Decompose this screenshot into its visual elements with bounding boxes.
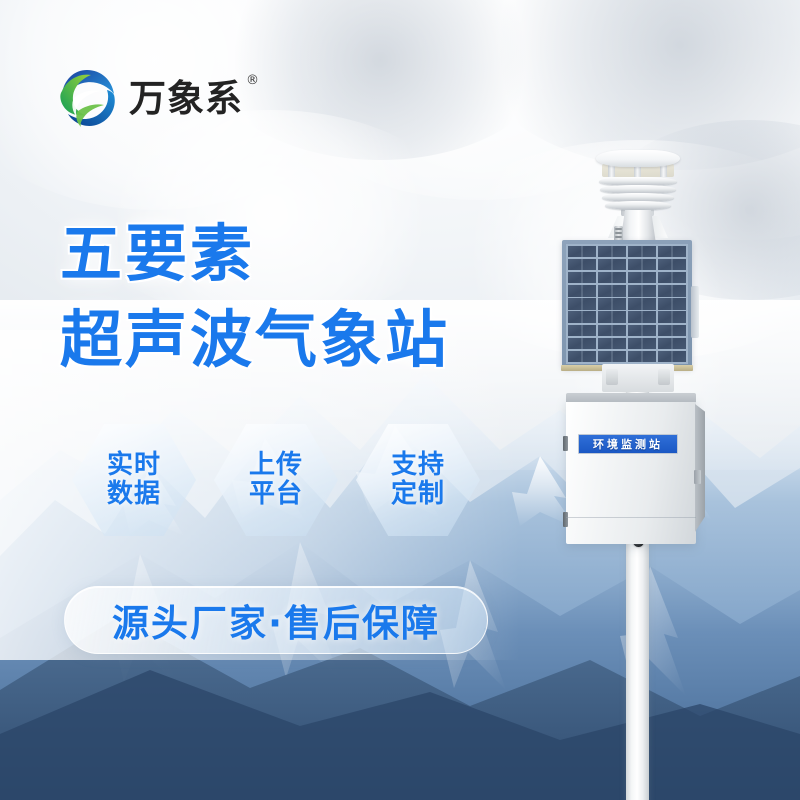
solar-cell: [628, 325, 657, 337]
enclosure-latch-bottom: [563, 512, 568, 527]
enclosure-top-edge: [566, 393, 696, 402]
headline-line-2: 超声波气象站: [60, 308, 450, 372]
enclosure-door-seam: [566, 517, 696, 518]
solar-cell: [658, 325, 687, 337]
headline-line-1: 五要素: [60, 222, 450, 286]
solar-panel: [562, 240, 692, 368]
feature-badges: 实时 数据 上传 平台 支持 定制: [72, 424, 480, 536]
solar-cell: [598, 272, 627, 284]
badge-custom-support[interactable]: 支持 定制: [356, 424, 480, 536]
solar-cell: [598, 325, 627, 337]
solar-cell: [568, 338, 597, 350]
solar-cell: [658, 311, 687, 323]
ultrasonic-sensor-head: [588, 150, 688, 242]
solar-panel-side-bracket: [691, 286, 699, 338]
enclosure-side-panel: [695, 404, 705, 532]
solar-cell: [628, 246, 657, 258]
solar-mount-bracket: [602, 364, 674, 392]
radiation-shield-plate-4: [605, 201, 671, 210]
swirling-globe-logo-icon: [57, 67, 119, 129]
enclosure-hinge-tab: [694, 470, 701, 484]
solar-cell: [598, 259, 627, 271]
badge-custom-support-line1: 支持: [391, 451, 445, 480]
transducer-post-right: [660, 165, 667, 177]
solar-cell: [628, 311, 657, 323]
solar-cell: [598, 298, 627, 310]
solar-cell: [598, 351, 627, 363]
solar-cell: [568, 259, 597, 271]
solar-cell: [568, 272, 597, 284]
registered-trademark-icon: ®: [246, 74, 260, 87]
solar-cell: [658, 338, 687, 350]
brand-logo[interactable]: 万象系 ®: [57, 62, 287, 134]
product-poster: 万象系 ® 五要素 超声波气象站 实时 数据 上传 平台 支持 定制 源头厂家·…: [0, 0, 800, 800]
solar-cell: [628, 351, 657, 363]
headline: 五要素 超声波气象站: [60, 222, 450, 373]
solar-cell: [658, 285, 687, 297]
solar-cell: [628, 272, 657, 284]
solar-cell: [598, 311, 627, 323]
badge-realtime-data[interactable]: 实时 数据: [72, 424, 196, 536]
solar-cell: [658, 272, 687, 284]
controller-enclosure: 环境监测站: [566, 400, 696, 544]
solar-cell: [568, 311, 597, 323]
brand-name: 万象系 ®: [129, 80, 243, 117]
badge-upload-platform[interactable]: 上传 平台: [214, 424, 338, 536]
solar-cell: [628, 259, 657, 271]
badge-realtime-data-line1: 实时: [107, 451, 161, 480]
badge-upload-platform-line1: 上传: [249, 451, 303, 480]
sensor-stem: [620, 210, 656, 244]
solar-cell: [628, 285, 657, 297]
badge-custom-support-line2: 定制: [391, 480, 445, 509]
solar-cell: [568, 285, 597, 297]
product-image: 环境监测站: [540, 150, 760, 800]
solar-cell: [628, 298, 657, 310]
badge-upload-platform-line2: 平台: [249, 480, 303, 509]
solar-cell-grid: [566, 244, 688, 364]
solar-cell: [568, 246, 597, 258]
enclosure-label: 环境监测站: [578, 434, 678, 454]
enclosure-latch-top: [563, 436, 568, 451]
solar-cell: [658, 351, 687, 363]
solar-cell: [658, 259, 687, 271]
solar-cell: [568, 351, 597, 363]
solar-cell: [598, 338, 627, 350]
guarantee-text: 源头厂家·售后保障: [112, 593, 440, 647]
solar-cell: [568, 298, 597, 310]
solar-cell: [568, 325, 597, 337]
sensor-top-cap: [596, 150, 680, 167]
bracket-clamp-left: [606, 369, 618, 385]
solar-cell: [658, 298, 687, 310]
solar-cell: [598, 246, 627, 258]
enclosure-label-text: 环境监测站: [593, 436, 663, 452]
guarantee-banner[interactable]: 源头厂家·售后保障: [64, 586, 488, 654]
transducer-post-left: [608, 165, 615, 177]
solar-cell: [628, 338, 657, 350]
bracket-clamp-right: [658, 369, 670, 385]
solar-cell: [658, 246, 687, 258]
solar-cell: [598, 285, 627, 297]
badge-realtime-data-line2: 数据: [107, 480, 161, 509]
